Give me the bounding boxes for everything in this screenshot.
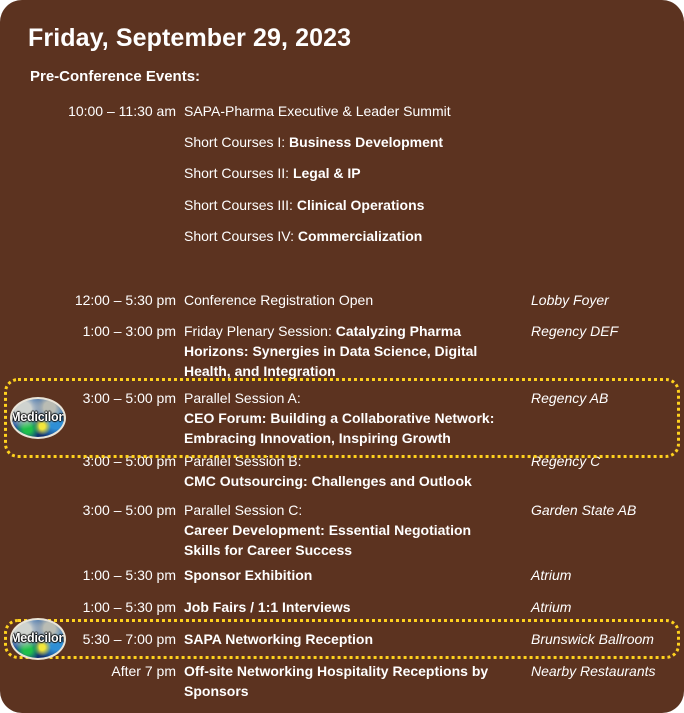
event-description: Parallel Session A:CEO Forum: Building a… — [184, 388, 524, 448]
event-description: Conference Registration Open — [184, 290, 524, 310]
description-emphasis: Off-site Networking Hospitality Receptio… — [184, 663, 488, 679]
description-text: Conference Registration Open — [184, 292, 373, 308]
description-emphasis: Horizons: Synergies in Data Science, Dig… — [184, 343, 477, 359]
event-time: After 7 pm — [0, 661, 176, 681]
event-time: 1:00 – 5:30 pm — [0, 565, 176, 585]
description-text: Short Courses IV: — [184, 228, 298, 244]
medicilon-logo-icon: Medicilon — [10, 397, 66, 439]
event-location: Atrium — [531, 565, 681, 585]
event-description: Parallel Session C:Career Development: E… — [184, 500, 524, 560]
event-description: Short Courses IV: Commercialization — [184, 226, 524, 246]
event-time: 1:00 – 5:30 pm — [0, 597, 176, 617]
description-emphasis: Commercialization — [298, 228, 422, 244]
event-description: SAPA-Pharma Executive & Leader Summit — [184, 101, 524, 121]
event-description: Short Courses II: Legal & IP — [184, 163, 524, 183]
description-text: SAPA-Pharma Executive & Leader Summit — [184, 103, 451, 119]
medicilon-logo-icon: Medicilon — [10, 618, 66, 660]
preconference-heading: Pre-Conference Events: — [30, 68, 200, 85]
description-emphasis: Sponsor Exhibition — [184, 567, 312, 583]
event-description: SAPA Networking Reception — [184, 629, 524, 649]
description-emphasis: Catalyzing Pharma — [336, 323, 461, 339]
description-emphasis: Business Development — [289, 134, 443, 150]
description-emphasis: Health, and Integration — [184, 363, 336, 379]
medicilon-logo-label: Medicilon — [10, 631, 66, 645]
event-description: Off-site Networking Hospitality Receptio… — [184, 661, 524, 701]
event-location: Lobby Foyer — [531, 290, 681, 310]
event-description: Job Fairs / 1:1 Interviews — [184, 597, 524, 617]
description-text: Friday Plenary Session: — [184, 323, 336, 339]
event-description: Sponsor Exhibition — [184, 565, 524, 585]
event-description: Friday Plenary Session: Catalyzing Pharm… — [184, 321, 524, 381]
description-emphasis: SAPA Networking Reception — [184, 631, 373, 647]
description-emphasis: Embracing Innovation, Inspiring Growth — [184, 430, 451, 446]
event-location: Brunswick Ballroom — [531, 629, 681, 649]
event-description: Short Courses III: Clinical Operations — [184, 195, 524, 215]
event-location: Nearby Restaurants — [531, 661, 681, 681]
event-description: Short Courses I: Business Development — [184, 132, 524, 152]
description-emphasis: CEO Forum: Building a Collaborative Netw… — [184, 410, 494, 426]
description-emphasis: Sponsors — [184, 683, 249, 699]
description-emphasis: Skills for Career Success — [184, 542, 352, 558]
event-location: Regency AB — [531, 388, 681, 408]
event-time: 1:00 – 3:00 pm — [0, 321, 176, 341]
description-emphasis: Legal & IP — [293, 165, 361, 181]
event-time: 3:00 – 5:00 pm — [0, 451, 176, 471]
description-emphasis: Clinical Operations — [297, 197, 425, 213]
event-location: Atrium — [531, 597, 681, 617]
agenda-card: Friday, September 29, 2023 Pre-Conferenc… — [0, 0, 684, 713]
event-location: Regency C — [531, 451, 681, 471]
description-text: Short Courses II: — [184, 165, 293, 181]
page-title: Friday, September 29, 2023 — [28, 24, 351, 53]
description-text: Parallel Session C: — [184, 502, 302, 518]
description-text: Parallel Session B: — [184, 453, 302, 469]
event-time: 3:00 – 5:00 pm — [0, 500, 176, 520]
description-emphasis: Career Development: Essential Negotiatio… — [184, 522, 471, 538]
description-emphasis: CMC Outsourcing: Challenges and Outlook — [184, 473, 472, 489]
medicilon-logo-label: Medicilon — [10, 410, 66, 424]
description-text: Short Courses III: — [184, 197, 297, 213]
event-description: Parallel Session B:CMC Outsourcing: Chal… — [184, 451, 524, 491]
description-text: Parallel Session A: — [184, 390, 301, 406]
event-location: Regency DEF — [531, 321, 681, 341]
event-time: 10:00 – 11:30 am — [0, 101, 176, 121]
event-time: 12:00 – 5:30 pm — [0, 290, 176, 310]
event-location: Garden State AB — [531, 500, 681, 520]
description-text: Short Courses I: — [184, 134, 289, 150]
description-emphasis: Job Fairs / 1:1 Interviews — [184, 599, 351, 615]
